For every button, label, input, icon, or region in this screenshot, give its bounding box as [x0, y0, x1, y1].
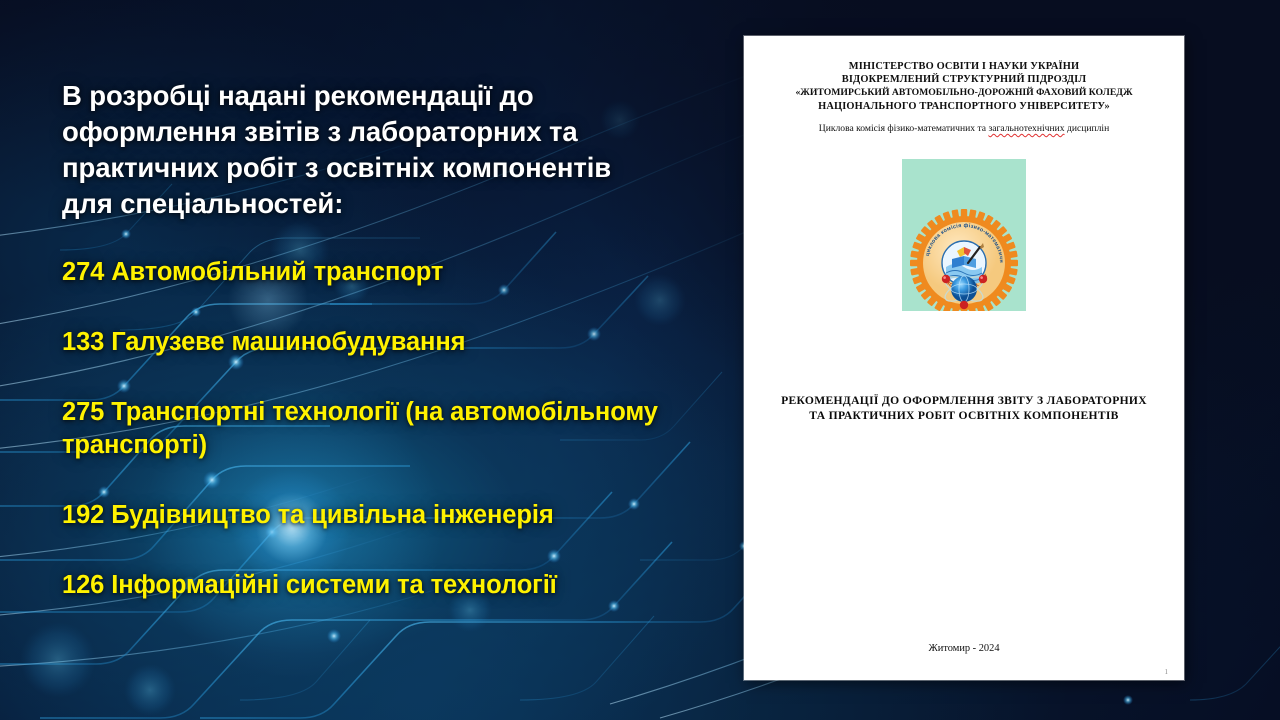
document-header-line-college: «ЖИТОМИРСЬКИЙ АВТОМОБІЛЬНО-ДОРОЖНІЙ ФАХО… — [762, 86, 1166, 99]
specialty-item-275: 275 Транспортні технології (на автомобіл… — [62, 396, 662, 462]
college-emblem-logo: циклова комісія фізико-математичних та з… — [902, 159, 1026, 311]
document-header: МІНІСТЕРСТВО ОСВІТИ І НАУКИ УКРАЇНИ ВІДО… — [744, 36, 1184, 135]
intro-paragraph: В розробці надані рекомендації до оформл… — [62, 78, 662, 222]
slide-text-column: В розробці надані рекомендації до оформл… — [62, 78, 662, 602]
specialty-list: 274 Автомобільний транспорт 133 Галузеве… — [62, 256, 662, 602]
document-header-line-subdivision: ВІДОКРЕМЛЕНИЙ СТРУКТУРНИЙ ПІДРОЗДІЛ — [762, 73, 1166, 86]
document-header-line-ministry: МІНІСТЕРСТВО ОСВІТИ І НАУКИ УКРАЇНИ — [762, 60, 1166, 73]
document-main-title: РЕКОМЕНДАЦІЇ ДО ОФОРМЛЕННЯ ЗВІТУ З ЛАБОР… — [778, 393, 1150, 423]
document-page-number: 1 — [1165, 668, 1169, 676]
document-city-year: Житомир - 2024 — [744, 643, 1184, 654]
specialty-item-126: 126 Інформаційні системи та технології — [62, 569, 662, 602]
document-title-page-preview: МІНІСТЕРСТВО ОСВІТИ І НАУКИ УКРАЇНИ ВІДО… — [744, 36, 1184, 680]
document-logo-wrapper: циклова комісія фізико-математичних та з… — [744, 159, 1184, 311]
commission-suffix: дисциплін — [1065, 123, 1110, 134]
specialty-item-192: 192 Будівництво та цивільна інженерія — [62, 499, 662, 532]
commission-misspelled-word: загальнотехнічних — [988, 123, 1064, 134]
document-header-line-university: НАЦІОНАЛЬНОГО ТРАНСПОРТНОГО УНІВЕРСИТЕТУ… — [762, 100, 1166, 113]
emblem-svg: циклова комісія фізико-математичних та з… — [902, 159, 1026, 311]
specialty-item-274: 274 Автомобільний транспорт — [62, 256, 662, 289]
commission-prefix: Циклова комісія фізико-математичних та — [819, 123, 989, 134]
presentation-slide: В розробці надані рекомендації до оформл… — [0, 0, 1280, 720]
specialty-item-133: 133 Галузеве машинобудування — [62, 326, 662, 359]
document-commission-line: Циклова комісія фізико-математичних та з… — [762, 122, 1166, 135]
